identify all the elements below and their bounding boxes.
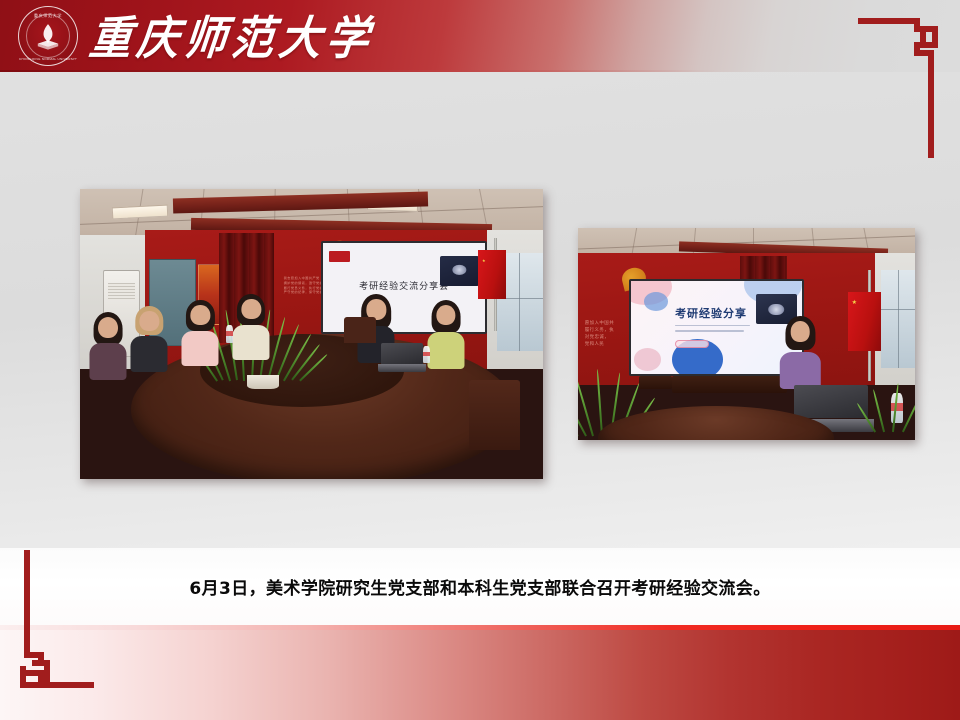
- screen-video-thumbnail: [440, 256, 479, 286]
- caption-text: 6月3日，美术学院研究生党支部和本科生党支部联合召开考研经验交流会。: [189, 574, 770, 599]
- attendee: [182, 305, 219, 366]
- slide-pill-badge: [675, 340, 709, 348]
- chair: [344, 317, 376, 343]
- attendee: [427, 305, 464, 369]
- page-header: 重庆师范大学 CHONGQING NORMAL UNIVERSITY 重庆师范大…: [0, 0, 960, 72]
- attendee: [233, 299, 270, 360]
- photo-stage: 我志愿加入中国共产党拥护党的纲领，遵守党的章程履行党员义务，执行党的决定严守党的…: [0, 72, 960, 548]
- seal-ring-text-top: 重庆师范大学: [19, 13, 77, 19]
- footer-accent-line: [0, 625, 960, 630]
- water-bottle: [423, 346, 430, 363]
- slide-canvas: 重庆师范大学 CHONGQING NORMAL UNIVERSITY 重庆师范大…: [0, 0, 960, 720]
- plant-pot: [247, 375, 279, 390]
- presenter-photo[interactable]: 愿加入中国共履行义务，执对党忠诚，党和人民 考研经验分享: [578, 228, 915, 440]
- floor-plant: [868, 381, 915, 432]
- seal-ring-text-bottom: CHONGQING NORMAL UNIVERSITY: [19, 57, 77, 61]
- university-seal-icon: 重庆师范大学 CHONGQING NORMAL UNIVERSITY: [18, 6, 78, 66]
- university-wordmark: 重庆师范大学: [87, 2, 378, 67]
- laptop: [381, 343, 423, 372]
- podium: [672, 376, 787, 393]
- slide-title: 考研经验分享: [675, 305, 747, 321]
- national-flag-icon: ★: [848, 292, 882, 351]
- page-footer: [0, 630, 960, 720]
- caption-band: 6月3日，美术学院研究生党支部和本科生党支部联合召开考研经验交流会。: [0, 548, 960, 625]
- corner-ornament-bottom-left: [14, 546, 94, 698]
- slide-content: 考研经验分享: [631, 281, 802, 375]
- window: [881, 270, 915, 368]
- chair: [469, 380, 520, 450]
- national-flag-icon: ★: [478, 250, 506, 299]
- photo-right-scene: 愿加入中国共履行义务，执对党忠诚，党和人民 考研经验分享: [578, 228, 915, 440]
- water-bottle: [226, 325, 233, 342]
- slide-subtitle-line: [675, 330, 743, 332]
- photo-left-scene: 我志愿加入中国共产党拥护党的纲领，遵守党的章程履行党员义务，执行党的决定严守党的…: [80, 189, 543, 479]
- speaker: [780, 321, 820, 389]
- corner-ornament-top-right: [858, 10, 938, 162]
- meeting-room-photo[interactable]: 我志愿加入中国共产党拥护党的纲领，遵守党的章程履行党员义务，执行党的决定严守党的…: [80, 189, 543, 479]
- decor-blob: [644, 292, 668, 311]
- attendee: [131, 311, 168, 372]
- wall-oath-text: 愿加入中国共履行义务，执对党忠诚，党和人民: [585, 321, 614, 348]
- slide-subtitle-line: [675, 325, 750, 327]
- attendee: [89, 317, 126, 381]
- screen-logo-icon: [329, 251, 350, 262]
- presentation-screen: 考研经验分享: [629, 279, 804, 377]
